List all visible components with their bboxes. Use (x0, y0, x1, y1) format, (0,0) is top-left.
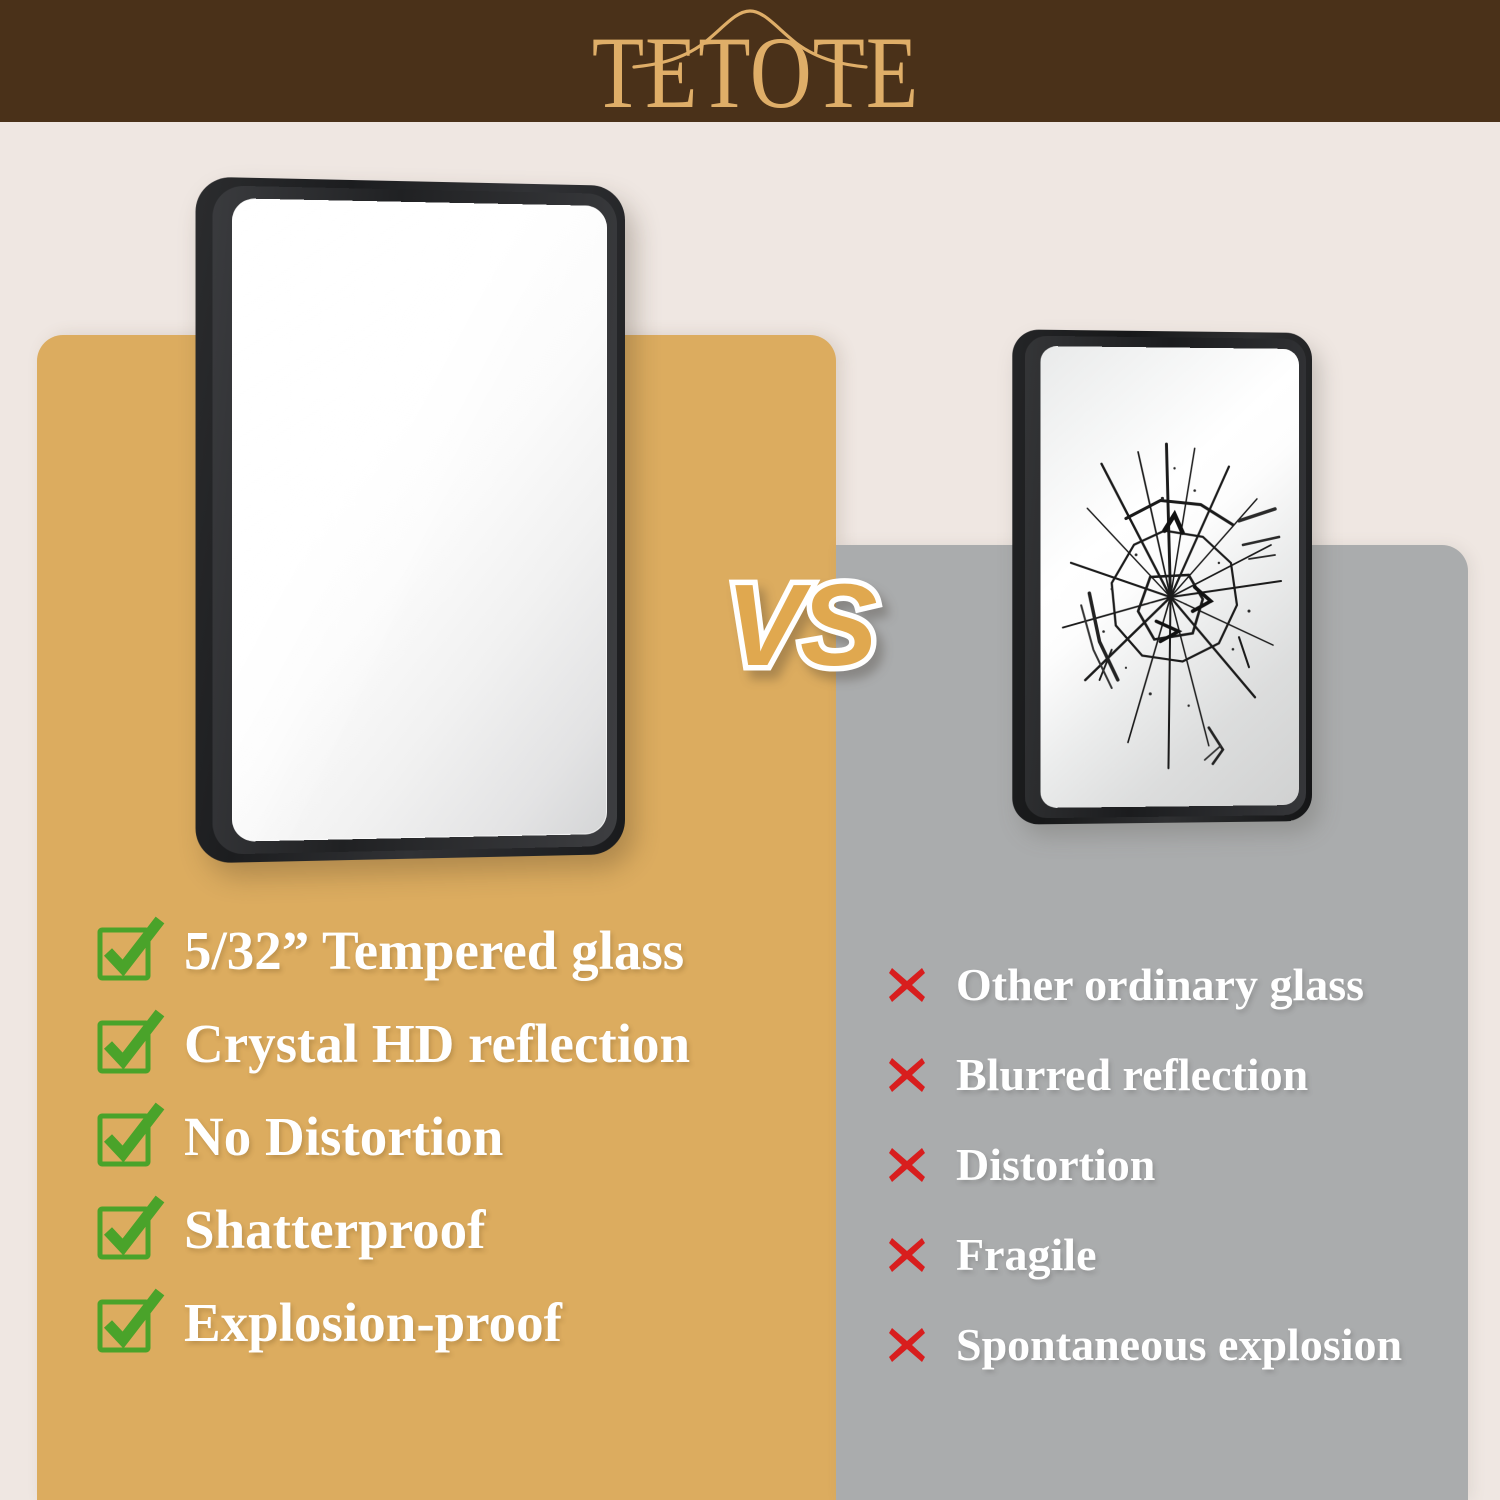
bad-feature-list: Other ordinary glass Blurred reflection … (884, 940, 1500, 1390)
list-item-label: No Distortion (184, 1107, 503, 1167)
list-item: Distortion (884, 1120, 1500, 1209)
mirror-glass (232, 198, 607, 841)
list-item-label: Shatterproof (184, 1200, 485, 1260)
list-item-label: Crystal HD reflection (184, 1014, 690, 1074)
list-item: No Distortion (96, 1091, 836, 1183)
list-item-label: Distortion (956, 1139, 1155, 1191)
list-item: Explosion-proof (96, 1277, 836, 1369)
comparison-infographic: TETOTE (0, 0, 1500, 1500)
crack-pattern-icon (1040, 346, 1299, 808)
list-item-label: 5/32” Tempered glass (184, 921, 684, 981)
vs-badge: VS (690, 565, 910, 685)
brand-logo: TETOTE (580, 5, 920, 117)
checkbox-check-icon (96, 1201, 158, 1259)
list-item-label: Fragile (956, 1229, 1097, 1281)
list-item: Shatterproof (96, 1184, 836, 1276)
broken-mirror-icon (1016, 333, 1312, 821)
list-item: Other ordinary glass (884, 940, 1500, 1029)
checkbox-check-icon (96, 1015, 158, 1073)
cross-x-icon (884, 1232, 930, 1278)
list-item: Spontaneous explosion (884, 1300, 1500, 1389)
cross-x-icon (884, 962, 930, 1008)
cross-x-icon (884, 1142, 930, 1188)
list-item: Blurred reflection (884, 1030, 1500, 1119)
list-item: Fragile (884, 1210, 1500, 1299)
checkbox-check-icon (96, 1294, 158, 1352)
list-item-label: Explosion-proof (184, 1293, 562, 1353)
list-item-label: Blurred reflection (956, 1049, 1308, 1101)
list-item-label: Spontaneous explosion (956, 1319, 1402, 1371)
intact-mirror-icon (205, 186, 625, 854)
list-item: 5/32” Tempered glass (96, 905, 836, 997)
list-item-label: Other ordinary glass (956, 959, 1364, 1011)
broken-mirror-glass (1040, 346, 1299, 808)
brand-name: TETOTE (592, 21, 908, 122)
brand-header: TETOTE (0, 0, 1500, 122)
good-feature-list: 5/32” Tempered glass Crystal HD reflecti… (96, 905, 836, 1370)
cross-x-icon (884, 1052, 930, 1098)
checkbox-check-icon (96, 922, 158, 980)
cross-x-icon (884, 1322, 930, 1368)
checkbox-check-icon (96, 1108, 158, 1166)
list-item: Crystal HD reflection (96, 998, 836, 1090)
